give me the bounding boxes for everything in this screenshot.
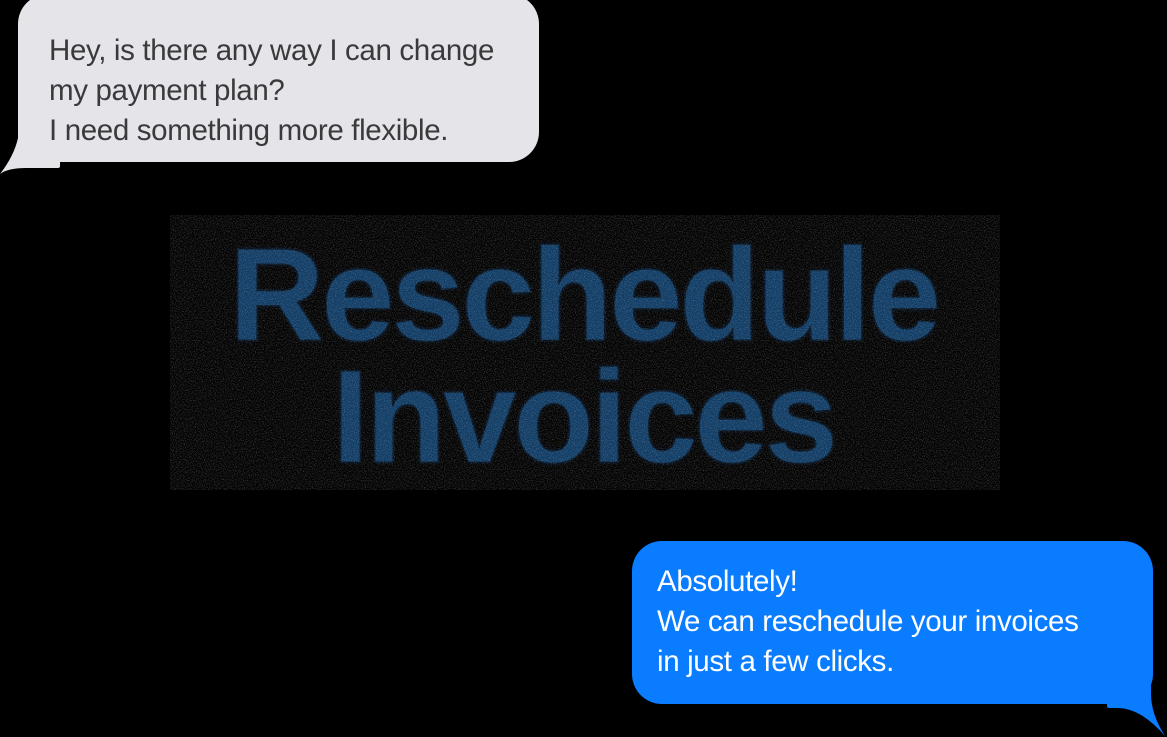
page-title-line-2: Invoices	[0, 353, 1167, 481]
chat-bubble-incoming-text: Hey, is there any way I can change my pa…	[18, 0, 539, 151]
headline-grain-overlay	[170, 215, 1000, 490]
page-title: Reschedule Invoices	[0, 231, 1167, 481]
page-title-line-1: Reschedule	[0, 231, 1167, 359]
chat-bubble-incoming: Hey, is there any way I can change my pa…	[18, 0, 539, 162]
chat-bubble-outgoing: Absolutely! We can reschedule your invoi…	[632, 541, 1153, 704]
chat-bubble-outgoing-text: Absolutely! We can reschedule your invoi…	[632, 541, 1153, 682]
hero-canvas: Hey, is there any way I can change my pa…	[0, 0, 1167, 737]
